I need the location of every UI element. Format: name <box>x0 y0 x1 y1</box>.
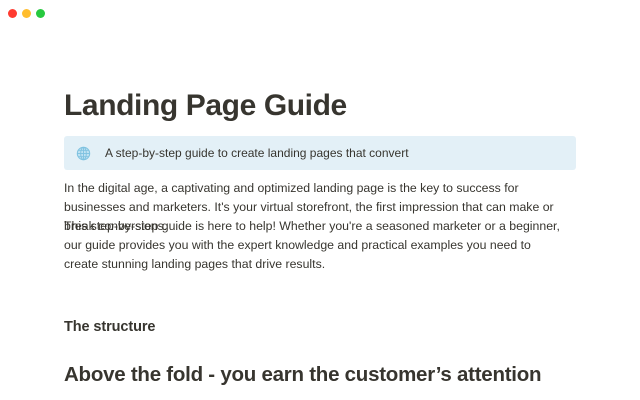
maximize-window-button[interactable] <box>36 9 45 18</box>
minimize-window-button[interactable] <box>22 9 31 18</box>
callout-text: A step-by-step guide to create landing p… <box>105 145 409 161</box>
heading-above-the-fold: Above the fold - you earn the customer’s… <box>64 361 541 389</box>
app-window: Landing Page Guide A step-by-step guide … <box>0 0 640 400</box>
window-controls <box>8 9 45 18</box>
callout-block[interactable]: A step-by-step guide to create landing p… <box>64 136 576 170</box>
heading-the-structure: The structure <box>64 317 155 337</box>
paragraph-guide: This step-by-step guide is here to help!… <box>64 217 564 274</box>
close-window-button[interactable] <box>8 9 17 18</box>
page-title: Landing Page Guide <box>64 88 347 124</box>
document-canvas: Landing Page Guide A step-by-step guide … <box>0 28 640 400</box>
window-titlebar <box>0 0 640 28</box>
globe-icon <box>76 146 91 161</box>
